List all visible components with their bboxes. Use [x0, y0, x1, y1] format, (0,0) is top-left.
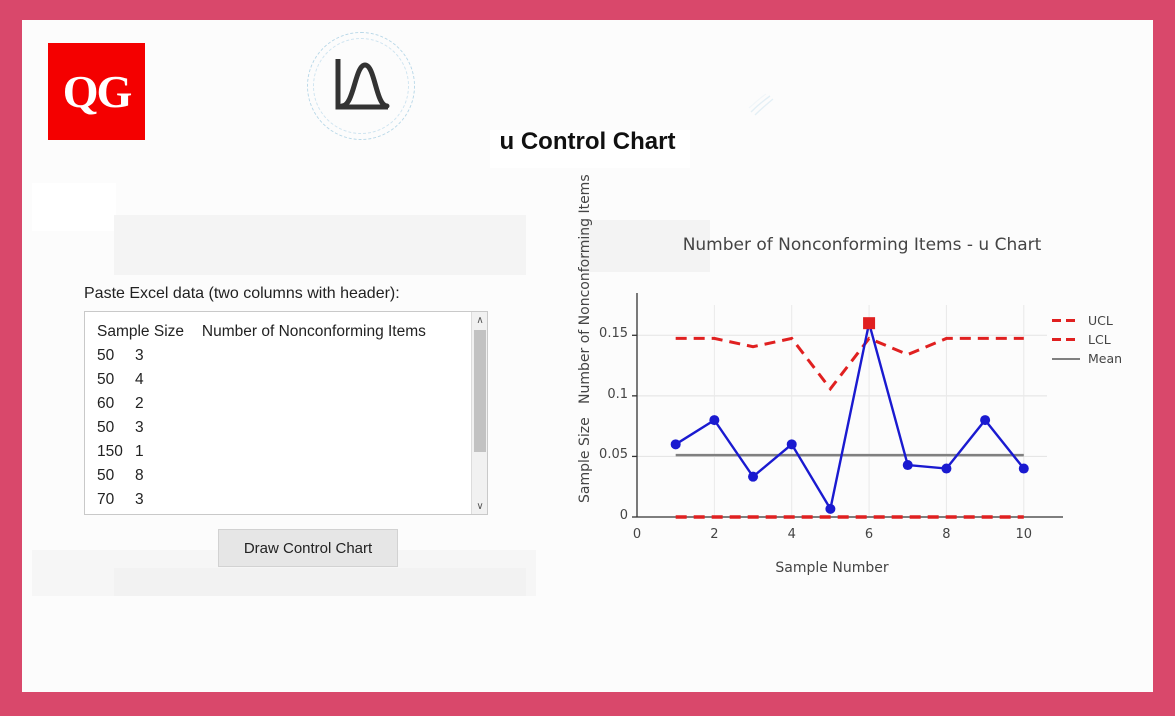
legend-swatch-icon: [1052, 358, 1080, 360]
x-tick-label: 6: [854, 527, 884, 542]
paste-data-label: Paste Excel data (two columns with heade…: [84, 285, 400, 303]
chart-legend: UCLLCLMean: [1052, 311, 1122, 368]
chart-y-axis-label: Sample Size Number of Nonconforming Item…: [577, 203, 593, 503]
page-title: u Control Chart: [22, 128, 1153, 156]
legend-item-ucl: UCL: [1052, 311, 1122, 330]
y-tick-label: 0.05: [599, 447, 628, 462]
qg-logo: QG: [48, 43, 145, 140]
legend-label: LCL: [1088, 332, 1111, 347]
chart-plot-area: [532, 215, 1147, 600]
legend-item-mean: Mean: [1052, 349, 1122, 368]
x-tick-label: 4: [777, 527, 807, 542]
draw-control-chart-button[interactable]: Draw Control Chart: [218, 529, 398, 567]
excel-data-textarea[interactable]: Sample Size Number of Nonconforming Item…: [84, 311, 488, 515]
y-tick-label: 0.15: [599, 326, 628, 341]
panel-wash-a: [32, 183, 116, 231]
normal-curve-icon: [307, 32, 415, 140]
scroll-down-arrow-icon[interactable]: ∨: [472, 498, 488, 514]
app-frame: QG u Control Chart Paste Excel data (two…: [22, 20, 1153, 692]
scrollbar-thumb[interactable]: [474, 330, 486, 452]
x-tick-label: 0: [622, 527, 652, 542]
legend-label: UCL: [1088, 313, 1113, 328]
panel-wash-e: [114, 568, 526, 596]
y-tick-label: 0: [620, 508, 628, 523]
y-tick-label: 0.1: [607, 387, 628, 402]
u-chart: Number of Nonconforming Items - u Chart …: [532, 215, 1147, 600]
x-tick-label: 10: [1009, 527, 1039, 542]
legend-item-lcl: LCL: [1052, 330, 1122, 349]
legend-label: Mean: [1088, 351, 1122, 366]
excel-data-textarea-value: Sample Size Number of Nonconforming Item…: [97, 320, 457, 512]
panel-wash-b: [114, 215, 526, 275]
chart-x-axis-label: Sample Number: [622, 560, 1042, 576]
scroll-up-arrow-icon[interactable]: ∧: [472, 312, 488, 328]
textarea-scrollbar[interactable]: ∧ ∨: [471, 312, 487, 514]
qg-logo-text: QG: [63, 69, 131, 115]
x-tick-label: 8: [931, 527, 961, 542]
x-tick-label: 2: [699, 527, 729, 542]
legend-swatch-icon: [1052, 319, 1080, 322]
legend-swatch-icon: [1052, 338, 1080, 341]
chart-title: Number of Nonconforming Items - u Chart: [612, 235, 1112, 255]
decorative-marks-icon: [748, 92, 776, 118]
